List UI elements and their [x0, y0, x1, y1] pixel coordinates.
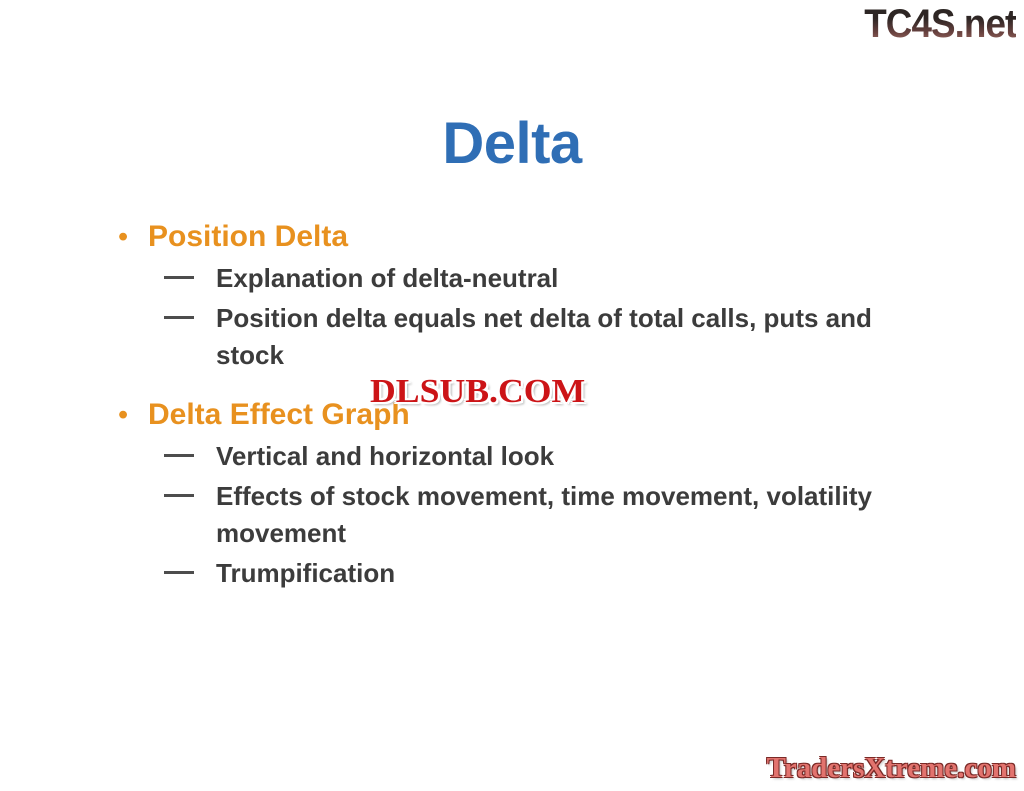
- slide-title: Delta: [0, 112, 1024, 176]
- sub-bullet-label: Explanation of delta-neutral: [216, 260, 558, 297]
- tradersxtreme-watermark: TradersXtreme.com: [767, 751, 1016, 785]
- dash-marker-icon: [164, 438, 216, 457]
- sub-bullet-item: Trumpification: [112, 555, 912, 592]
- bullet-group-position-delta: • Position Delta: [112, 216, 912, 258]
- dash-marker-icon: [164, 555, 216, 574]
- sub-bullet-item: Effects of stock movement, time movement…: [112, 478, 912, 552]
- sub-bullet-label: Effects of stock movement, time movement…: [216, 478, 876, 552]
- dlsub-watermark: DLSUB.COM: [370, 373, 585, 411]
- sub-bullet-label: Position delta equals net delta of total…: [216, 300, 876, 374]
- bullet-level1-label: Position Delta: [148, 216, 348, 258]
- sub-bullet-item: Vertical and horizontal look: [112, 438, 912, 475]
- sub-bullet-item: Explanation of delta-neutral: [112, 260, 912, 297]
- dash-marker-icon: [164, 300, 216, 319]
- sub-bullet-item: Position delta equals net delta of total…: [112, 300, 912, 374]
- sub-bullet-label: Vertical and horizontal look: [216, 438, 554, 475]
- dash-marker-icon: [164, 478, 216, 497]
- bullet-dot-icon: •: [112, 394, 148, 436]
- sub-bullet-label: Trumpification: [216, 555, 395, 592]
- slide-canvas: TC4S.net Delta • Position Delta Explanat…: [0, 0, 1024, 791]
- bullet-dot-icon: •: [112, 216, 148, 258]
- tc4s-brand-logo: TC4S.net: [864, 2, 1016, 46]
- dash-marker-icon: [164, 260, 216, 279]
